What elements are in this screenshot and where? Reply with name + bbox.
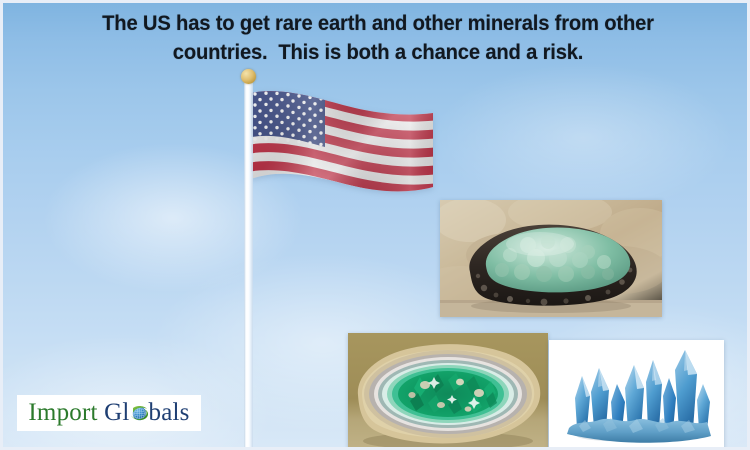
slide-title: The US has to get rare earth and other m…: [46, 9, 710, 67]
logo-word-gl: Gl: [104, 399, 129, 426]
logo-text: Import Gl: [28, 400, 189, 426]
logo-word-bals: bals: [149, 399, 190, 426]
flagpole: [244, 81, 253, 450]
cloud-haze: [433, 63, 733, 213]
globe-icon: [130, 404, 149, 423]
american-flag: [251, 91, 433, 251]
slide-title-line-2: countries. This is both a chance and a r…: [46, 38, 710, 67]
green-mineral-photo: [440, 200, 662, 317]
slide-title-line-1: The US has to get rare earth and other m…: [46, 9, 710, 38]
logo-word-import: Import: [28, 399, 97, 426]
slide-canvas: The US has to get rare earth and other m…: [0, 0, 750, 450]
import-globals-logo[interactable]: Import Gl: [17, 395, 201, 431]
green-geode-photo: [348, 333, 548, 450]
cloud-haze: [0, 333, 273, 450]
blue-crystal-photo: [549, 340, 724, 450]
flagpole-finial-ball: [241, 69, 256, 84]
